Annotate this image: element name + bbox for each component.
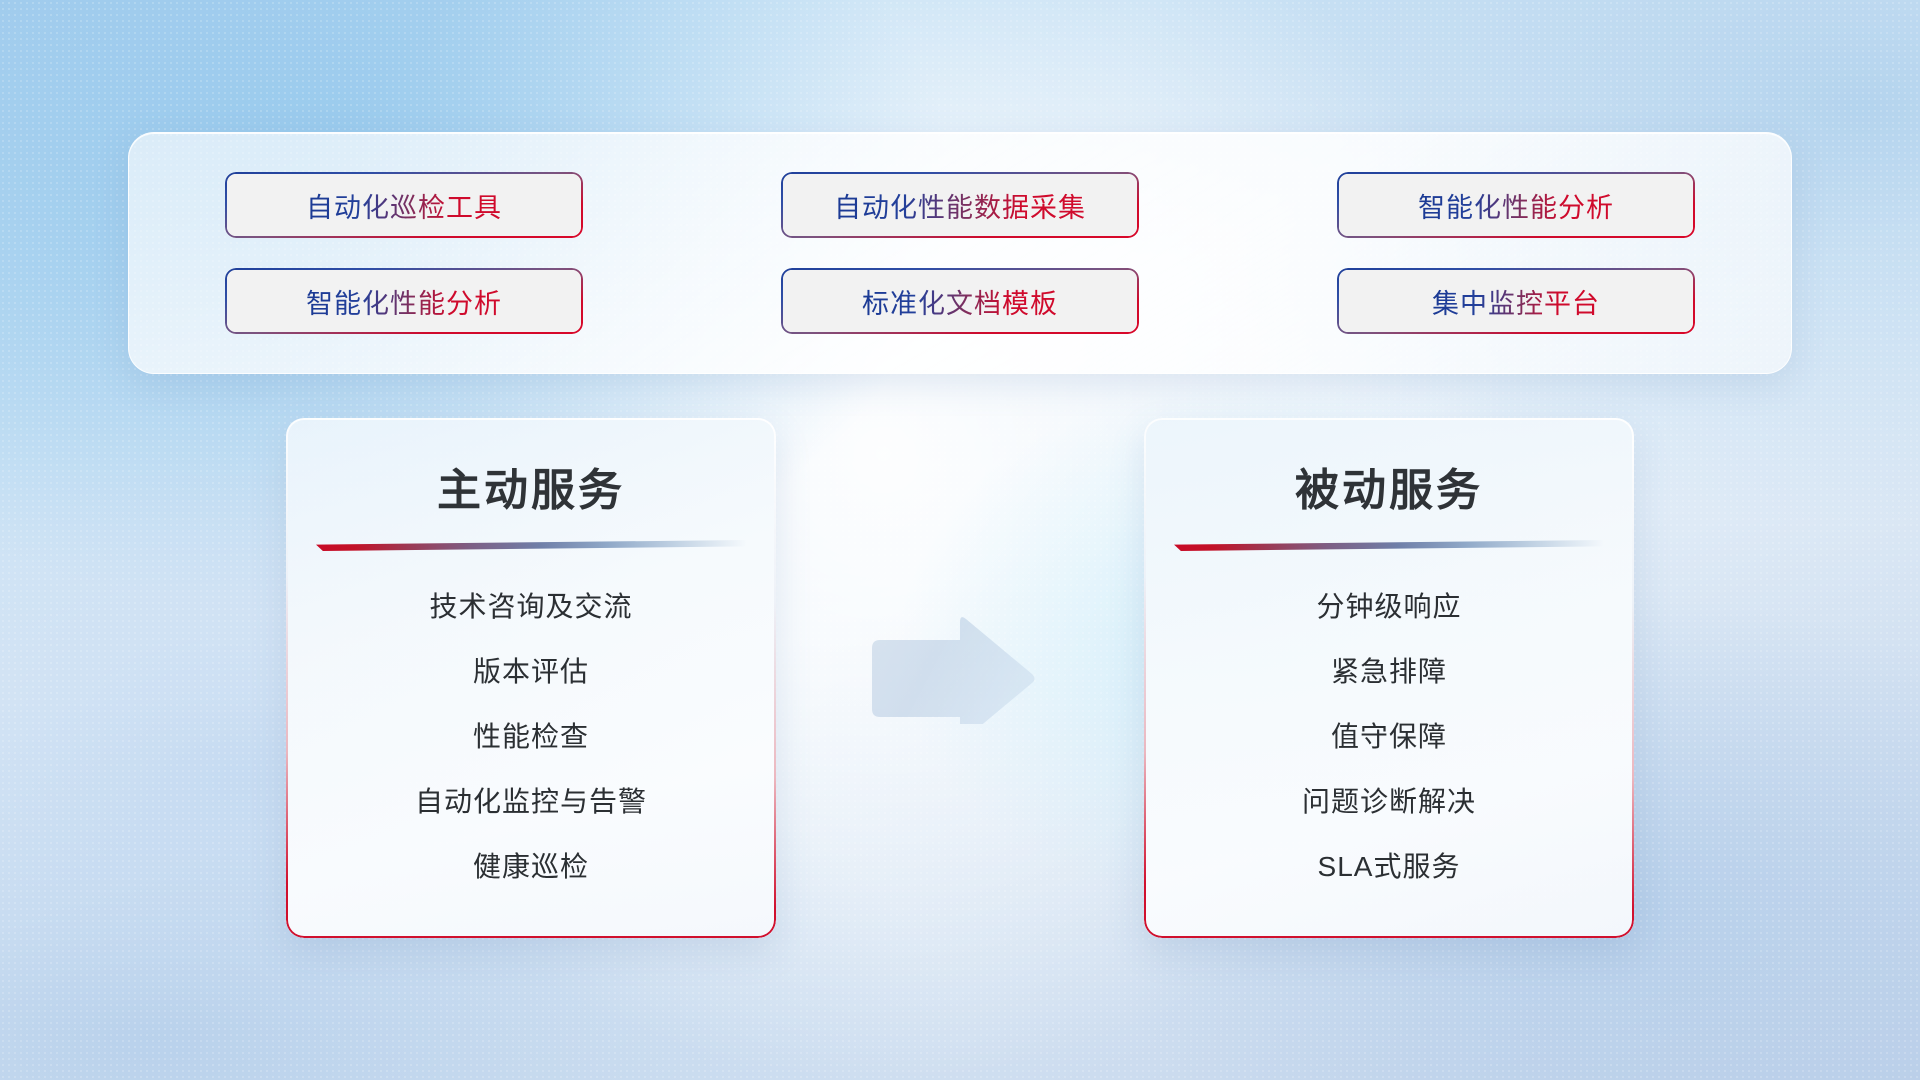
card-proactive-service: 主动服务 技术咨询及交流 版本评估 性能检查 自动化监控与告警 健康巡检 xyxy=(286,418,776,938)
card-title: 被动服务 xyxy=(1144,454,1634,518)
tag-inner: 智能化性能分析 xyxy=(1339,174,1693,236)
tag-automated-inspection-tool[interactable]: 自动化巡检工具 xyxy=(225,172,583,238)
list-item: 自动化监控与告警 xyxy=(415,780,647,820)
tag-label: 自动化性能数据采集 xyxy=(834,186,1086,225)
list-item: SLA式服务 xyxy=(1318,845,1461,885)
tag-intelligent-performance-analysis-bottom[interactable]: 智能化性能分析 xyxy=(225,268,583,334)
card-title-divider xyxy=(316,540,746,551)
tag-label: 自动化巡检工具 xyxy=(306,186,502,225)
arrow-shape xyxy=(872,617,1035,724)
tag-intelligent-performance-analysis-top[interactable]: 智能化性能分析 xyxy=(1337,172,1695,238)
list-item: 版本评估 xyxy=(473,650,589,690)
list-item: 分钟级响应 xyxy=(1316,585,1461,625)
card-title-divider xyxy=(1174,540,1604,551)
card-item-list: 技术咨询及交流 版本评估 性能检查 自动化监控与告警 健康巡检 xyxy=(286,585,776,885)
tag-inner: 自动化巡检工具 xyxy=(227,174,581,236)
card-title: 主动服务 xyxy=(286,454,776,518)
tag-label: 集中监控平台 xyxy=(1432,282,1600,321)
tag-label: 标准化文档模板 xyxy=(862,282,1058,321)
tag-row-1: 自动化巡检工具 自动化性能数据采集 智能化性能分析 xyxy=(225,172,1695,238)
tag-automated-performance-data-collection[interactable]: 自动化性能数据采集 xyxy=(781,172,1139,238)
list-item: 紧急排障 xyxy=(1331,650,1447,690)
arrow-right-icon xyxy=(862,614,1042,724)
tag-inner: 集中监控平台 xyxy=(1339,270,1693,332)
tag-standardized-document-template[interactable]: 标准化文档模板 xyxy=(781,268,1139,334)
capability-tag-panel: 自动化巡检工具 自动化性能数据采集 智能化性能分析 智能化性能分析 标准化文档模… xyxy=(128,132,1792,374)
list-item: 技术咨询及交流 xyxy=(429,585,632,625)
list-item: 问题诊断解决 xyxy=(1302,780,1476,820)
list-item: 性能检查 xyxy=(473,715,589,755)
tag-inner: 标准化文档模板 xyxy=(783,270,1137,332)
card-reactive-service: 被动服务 分钟级响应 紧急排障 值守保障 问题诊断解决 SLA式服务 xyxy=(1144,418,1634,938)
tag-label: 智能化性能分析 xyxy=(306,282,502,321)
tag-centralized-monitoring-platform[interactable]: 集中监控平台 xyxy=(1337,268,1695,334)
card-item-list: 分钟级响应 紧急排障 值守保障 问题诊断解决 SLA式服务 xyxy=(1144,585,1634,885)
tag-inner: 智能化性能分析 xyxy=(227,270,581,332)
tag-label: 智能化性能分析 xyxy=(1418,186,1614,225)
tag-row-2: 智能化性能分析 标准化文档模板 集中监控平台 xyxy=(225,268,1695,334)
list-item: 健康巡检 xyxy=(473,845,589,885)
list-item: 值守保障 xyxy=(1331,715,1447,755)
tag-inner: 自动化性能数据采集 xyxy=(783,174,1137,236)
